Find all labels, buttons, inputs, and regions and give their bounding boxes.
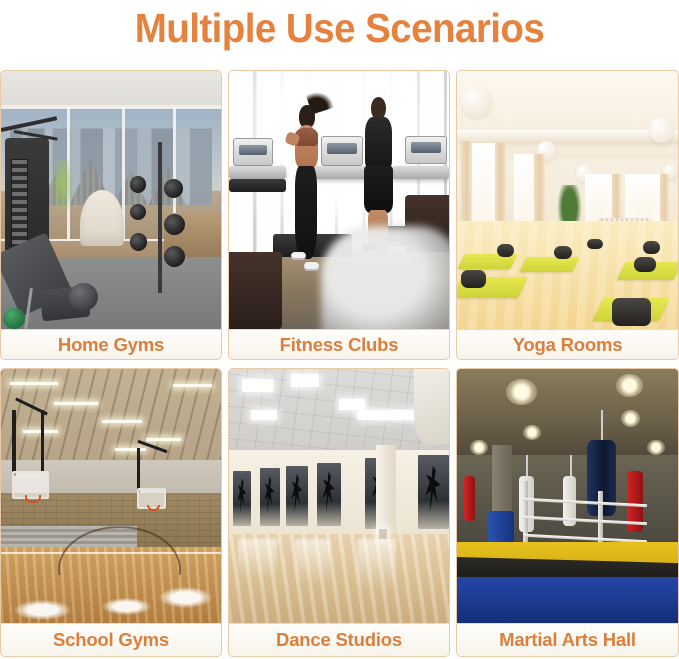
treadmill-console — [321, 136, 363, 167]
ceiling-light — [10, 382, 58, 385]
dancer-poster — [286, 466, 308, 527]
fitness-club-scene-art — [229, 71, 449, 329]
treadmill-belt — [229, 179, 286, 192]
meditation-cushion — [554, 246, 572, 259]
meditation-cushion — [461, 270, 485, 288]
scenario-label-school-gyms: School Gyms — [1, 623, 221, 656]
hoop-support-post — [137, 448, 140, 494]
weight-plate — [164, 214, 185, 235]
ceiling-lamp — [506, 379, 537, 404]
air-duct — [414, 369, 449, 445]
floor-glare — [14, 600, 71, 620]
dancer-poster — [418, 455, 449, 529]
curtain — [612, 174, 621, 223]
meditation-cushion — [634, 257, 656, 272]
ceiling-beam — [457, 130, 678, 143]
ceiling-lamp — [647, 440, 665, 455]
window — [625, 174, 660, 220]
scenario-card-martial-arts-hall[interactable]: Martial Arts Hall — [456, 368, 679, 657]
floor-reflection — [357, 539, 397, 590]
yoga-rooms-photo — [457, 71, 678, 329]
walker-shorts — [364, 166, 393, 212]
scenario-label-fitness-clubs: Fitness Clubs — [229, 329, 449, 359]
dancer-poster — [260, 468, 280, 526]
scenario-label-martial-arts-hall: Martial Arts Hall — [457, 623, 678, 656]
window — [585, 174, 612, 220]
curtain — [534, 154, 545, 231]
martial-arts-hall-photo — [457, 369, 678, 623]
hoop-support-post — [41, 410, 44, 471]
scenario-label-yoga-rooms: Yoga Rooms — [457, 329, 678, 359]
scenario-label-home-gyms: Home Gyms — [1, 329, 221, 359]
treadmill-console — [405, 136, 447, 164]
floor-reflection — [295, 539, 330, 585]
page-title: Multiple Use Scenarios — [20, 0, 658, 58]
dance-studios-photo — [229, 369, 449, 623]
martial-arts-scene-art — [457, 369, 678, 623]
weight-plate — [130, 233, 147, 250]
hanging-plant — [49, 159, 75, 221]
treadmill-console — [233, 138, 273, 166]
dancer-poster — [317, 463, 341, 527]
scenario-card-school-gyms[interactable]: School Gyms — [0, 368, 222, 657]
foreground-blur — [321, 226, 449, 329]
ceiling-light — [54, 402, 98, 405]
medicine-ball — [69, 283, 98, 311]
ceiling-lamp — [616, 374, 643, 397]
ceiling-light-panel — [339, 399, 365, 409]
ceiling-light-panel — [242, 379, 273, 392]
meditation-cushion — [497, 244, 515, 257]
wall-outlet — [379, 529, 388, 539]
yoga-mat — [520, 257, 581, 272]
tall-window — [514, 154, 536, 226]
weight-plate — [130, 176, 146, 192]
wall-pad-red — [464, 476, 475, 522]
walker-torso — [365, 117, 391, 169]
treadmill-rail — [229, 166, 286, 179]
dancer-poster — [233, 471, 251, 527]
dance-studio-scene-art — [229, 369, 449, 623]
meditation-cushion — [612, 298, 652, 326]
floor-reflection — [238, 539, 278, 580]
ceiling-light — [102, 420, 142, 423]
equipment-seat — [229, 252, 282, 329]
scenario-card-dance-studios[interactable]: Dance Studios — [228, 368, 450, 657]
yoga-room-scene-art — [457, 71, 678, 329]
weight-plate — [164, 246, 185, 267]
blue-mat — [457, 577, 678, 623]
scenario-grid: Home Gyms — [0, 70, 679, 657]
floor-glare — [102, 598, 150, 616]
meditation-cushion — [587, 239, 602, 249]
scenario-card-home-gyms[interactable]: Home Gyms — [0, 70, 222, 360]
ceiling-light — [146, 438, 181, 441]
scenario-card-yoga-rooms[interactable]: Yoga Rooms — [456, 70, 679, 360]
tall-window — [470, 143, 497, 231]
window-frame-top — [1, 105, 221, 109]
ceiling-light-panel — [251, 410, 277, 420]
scenario-card-fitness-clubs[interactable]: Fitness Clubs — [228, 70, 450, 360]
school-gym-scene-art — [1, 369, 221, 623]
wall-pillar — [376, 445, 396, 536]
ceiling-light-panel — [291, 374, 320, 387]
running-shoe — [304, 262, 319, 271]
running-shoe — [291, 252, 306, 261]
ceiling-light — [115, 448, 146, 451]
scenario-label-dance-studios: Dance Studios — [229, 623, 449, 656]
ceiling-light — [173, 384, 213, 387]
treadmill-rail — [392, 166, 449, 179]
curtain — [660, 174, 669, 223]
floor-glare — [159, 587, 212, 607]
basketball-backboard — [12, 471, 49, 499]
weight-plate — [164, 179, 182, 198]
weight-plate — [130, 204, 146, 220]
dumbbell-rack — [129, 169, 191, 293]
ceiling — [457, 369, 678, 460]
fitness-clubs-photo — [229, 71, 449, 329]
school-gyms-photo — [1, 369, 221, 623]
home-gyms-photo — [1, 71, 221, 329]
ceiling-lamp — [523, 425, 541, 440]
runner-legs — [295, 166, 317, 259]
hoop-support-post — [12, 410, 16, 476]
home-gym-scene-art — [1, 71, 221, 329]
meditation-cushion — [643, 241, 661, 254]
globe-lamp — [649, 117, 673, 143]
basketball-backboard — [137, 488, 166, 508]
